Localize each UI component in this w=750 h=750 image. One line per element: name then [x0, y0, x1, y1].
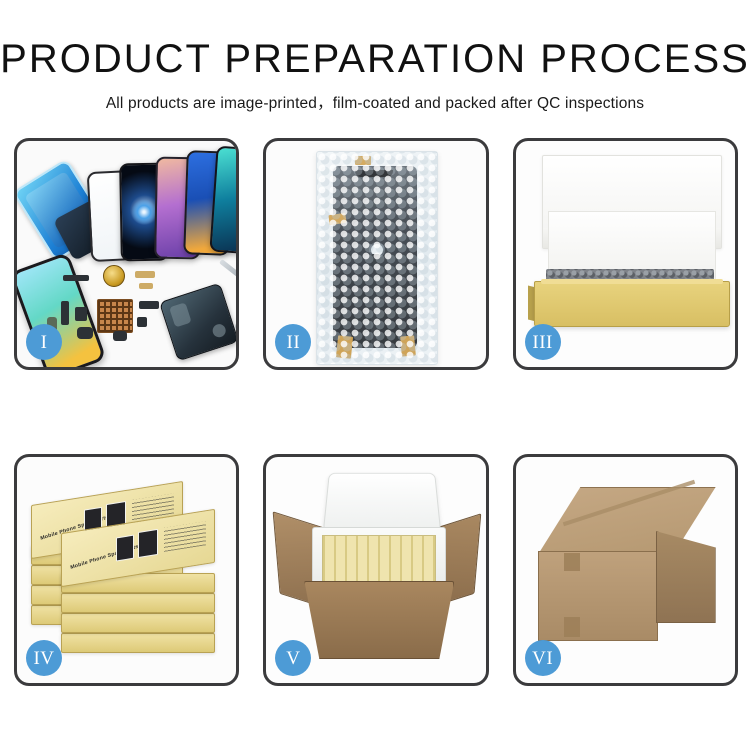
step-badge-6: VI — [525, 640, 561, 676]
packed-yellow-boxes-icon — [322, 535, 436, 583]
step-badge-1: I — [26, 324, 62, 360]
box-art-text-lines — [164, 521, 206, 552]
carton-tape-lower-icon — [564, 617, 580, 637]
screw-icon — [235, 323, 236, 330]
part-chip-icon — [137, 317, 147, 327]
header: PRODUCT PREPARATION PROCESS All products… — [0, 0, 750, 113]
part-strip-icon — [61, 301, 69, 325]
box-art-screen-icon — [138, 529, 158, 558]
step-panel-6: VI — [513, 454, 738, 686]
part-speaker-icon — [77, 327, 93, 339]
step-panel-4: Mobile Phone Spare Parts Mobile Phone Sp… — [14, 454, 239, 686]
product-preparation-infographic: PRODUCT PREPARATION PROCESS All products… — [0, 0, 750, 750]
tweezers-icon — [219, 259, 236, 284]
phone-back-shell-icon — [159, 283, 236, 362]
part-bar-icon — [63, 275, 89, 281]
box-art-screen-icon — [116, 535, 134, 562]
step-panel-3: III — [513, 138, 738, 370]
stacked-box — [61, 633, 215, 653]
steps-grid: I II — [14, 138, 738, 686]
styrofoam-lid-icon — [323, 473, 441, 533]
step-badge-4: IV — [26, 640, 62, 676]
stacked-box — [61, 613, 215, 633]
flex-cable-icon — [135, 271, 155, 278]
step-panel-1: I — [14, 138, 239, 370]
step-panel-2: II — [263, 138, 488, 370]
part-connector-icon — [139, 301, 159, 309]
page-subtitle: All products are image-printed，film-coat… — [0, 91, 750, 113]
gold-coil-icon — [103, 265, 125, 287]
step-panel-5: V — [263, 454, 488, 686]
carton-side-face-icon — [656, 531, 716, 623]
carton-tape-upper-icon — [564, 553, 580, 571]
yellow-box-tray-icon — [534, 281, 730, 327]
stacked-box — [61, 593, 215, 613]
part-camera-icon — [113, 331, 127, 341]
copper-grid-chip-icon — [97, 299, 133, 333]
bubble-texture — [317, 152, 437, 364]
step-badge-3: III — [525, 324, 561, 360]
open-carton-icon — [304, 581, 454, 659]
bubble-wrap-bag-icon — [316, 151, 438, 365]
carton-front-face-icon — [538, 551, 658, 641]
page-title: PRODUCT PREPARATION PROCESS — [0, 38, 750, 80]
part-block-icon — [75, 307, 87, 321]
flex-cable-small-icon — [139, 283, 153, 289]
